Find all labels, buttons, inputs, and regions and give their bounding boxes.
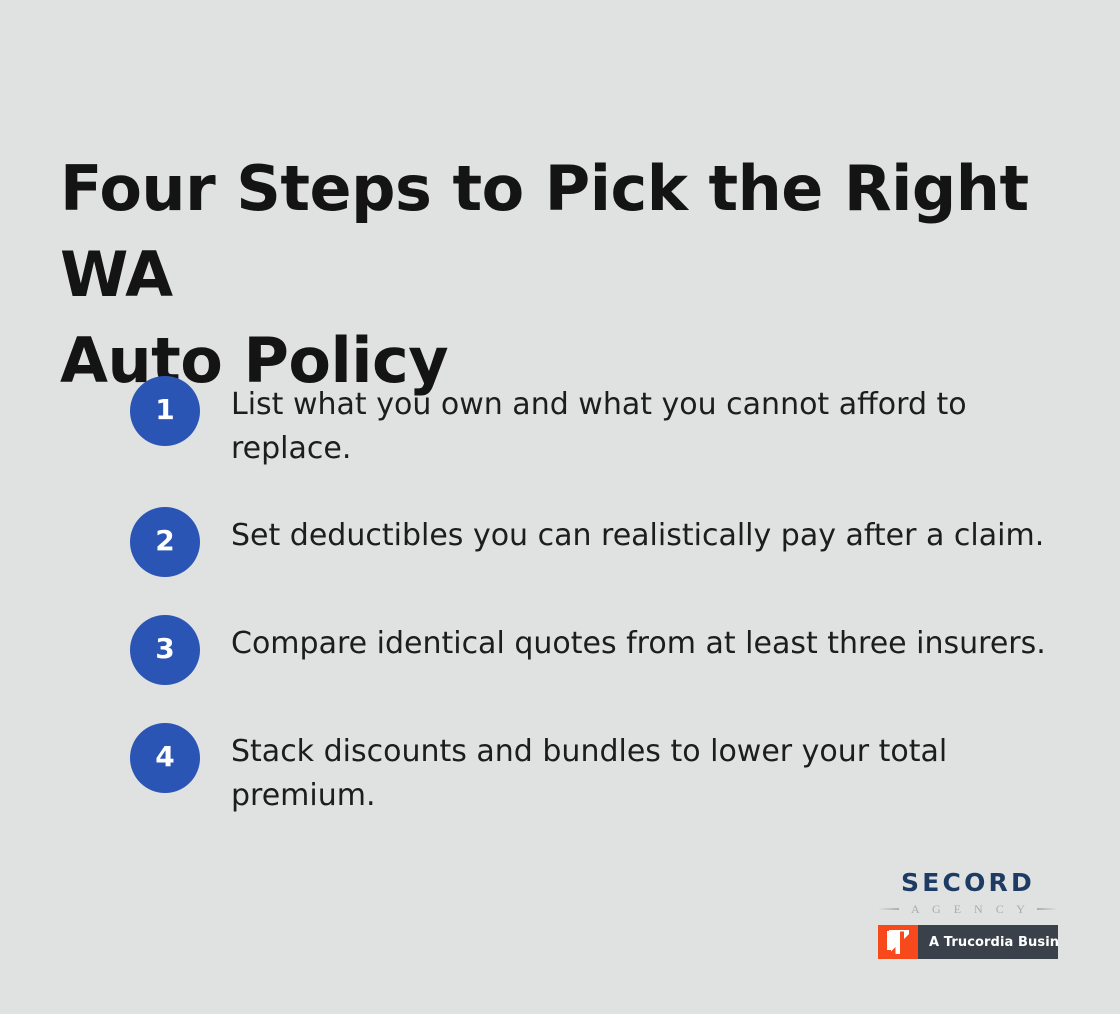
list-item: 4 Stack discounts and bundles to lower y…	[130, 723, 1070, 818]
page-title: Four Steps to Pick the Right WA Auto Pol…	[60, 146, 1070, 404]
step-number-badge-2: 2	[130, 507, 200, 577]
list-item: 3 Compare identical quotes from at least…	[130, 615, 1070, 685]
agency-rule-right	[1037, 908, 1058, 910]
trucordia-badge-label: A Trucordia Business	[918, 925, 1058, 959]
step-number-badge-3: 3	[130, 615, 200, 685]
secord-agency-logo: SECORD A G E N C Y A Trucordia Business	[878, 868, 1058, 959]
trucordia-mark-icon	[878, 925, 918, 959]
steps-list: 1 List what you own and what you cannot …	[130, 370, 1070, 818]
trucordia-badge: A Trucordia Business	[878, 925, 1058, 959]
step-text-4: Stack discounts and bundles to lower you…	[231, 723, 971, 818]
agency-rule-left	[878, 908, 899, 910]
list-item: 2 Set deductibles you can realistically …	[130, 507, 1070, 577]
list-item: 1 List what you own and what you cannot …	[130, 376, 1070, 471]
agency-tagline-row: A G E N C Y	[878, 902, 1058, 916]
trucordia-t-glyph-icon	[887, 930, 909, 954]
infographic-canvas: Four Steps to Pick the Right WA Auto Pol…	[0, 0, 1120, 1014]
step-number-badge-4: 4	[130, 723, 200, 793]
step-text-1: List what you own and what you cannot af…	[231, 376, 991, 471]
step-text-2: Set deductibles you can realistically pa…	[231, 507, 1046, 558]
step-number-badge-1: 1	[130, 376, 200, 446]
secord-wordmark-icon: SECORD	[878, 868, 1058, 898]
agency-tagline-text: A G E N C Y	[906, 903, 1030, 915]
step-text-3: Compare identical quotes from at least t…	[231, 615, 1046, 666]
secord-wordmark-text: SECORD	[901, 868, 1035, 897]
